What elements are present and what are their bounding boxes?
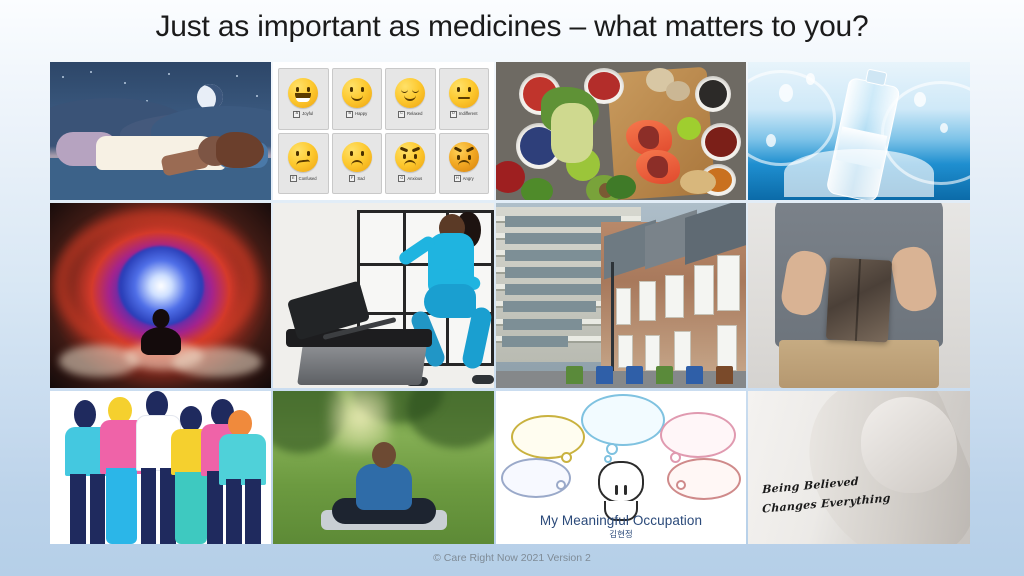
window-shape — [694, 265, 714, 315]
angry-face-icon — [449, 142, 479, 172]
healthy-food-tile[interactable] — [496, 62, 746, 200]
shortcut-key: A — [293, 111, 300, 118]
water-crown-splash — [784, 149, 934, 197]
shortcut-key: E — [290, 175, 297, 182]
finances-tile[interactable] — [748, 203, 970, 388]
emoji-label: H Angry — [454, 175, 474, 182]
emoji-name: Indifferent — [459, 112, 478, 116]
page-title: Just as important as medicines – what ma… — [0, 10, 1024, 44]
relaxed-face-icon — [395, 78, 425, 108]
grin-face-icon — [288, 78, 318, 108]
figure-head — [598, 461, 644, 503]
shortcut-key: G — [398, 175, 405, 182]
water-tile[interactable] — [748, 62, 970, 200]
water-droplet — [806, 73, 815, 85]
emoji-label: C Relaxed — [398, 111, 422, 118]
bottle-cap — [866, 69, 888, 87]
window-shape — [717, 325, 737, 372]
emoji-card-sad[interactable]: F Sad — [332, 133, 383, 195]
broccoli-floret — [521, 178, 553, 200]
window-shape — [618, 335, 633, 368]
emoji-label: F Sad — [349, 175, 365, 182]
mindfulness-tile[interactable] — [273, 391, 494, 544]
shortcut-key: C — [398, 111, 405, 118]
emoji-name: Anxious — [407, 177, 422, 181]
emoji-label: D Indifferent — [450, 111, 478, 118]
person-figure — [218, 403, 267, 544]
thought-dot — [606, 443, 618, 455]
parsley-sprig — [606, 175, 636, 199]
thought-bubble — [511, 415, 585, 459]
shortcut-key: H — [454, 175, 461, 182]
thought-dot — [670, 452, 681, 463]
hair-shape — [216, 132, 264, 168]
terraced-houses — [601, 222, 746, 389]
shortcut-key: D — [450, 111, 457, 118]
celery-stalks — [551, 103, 593, 163]
anxious-face-icon — [395, 142, 425, 172]
community-tile[interactable] — [50, 391, 271, 544]
emoji-label: B Happy — [346, 111, 367, 118]
empty-wallet — [826, 257, 892, 342]
thought-bubble — [667, 458, 741, 500]
emoji-card-relaxed[interactable]: C Relaxed — [385, 68, 436, 130]
emoji-label: E Confused — [290, 175, 317, 182]
emoji-grid: A Joyful B Happy C Relaxed — [278, 68, 489, 194]
treadmill-base — [297, 344, 426, 385]
athlete-shoe — [472, 375, 494, 384]
housing-tile[interactable] — [496, 203, 746, 388]
window-shape — [717, 255, 740, 312]
road-surface — [496, 371, 746, 388]
thought-dot — [556, 480, 566, 490]
sleep-tile[interactable] — [50, 62, 271, 200]
emoji-card-joyful[interactable]: A Joyful — [278, 68, 329, 130]
wheelie-bin — [686, 366, 703, 384]
being-believed-tile[interactable]: Being Believed Changes Everything — [748, 391, 970, 544]
water-droplet — [940, 123, 948, 133]
thought-dot — [676, 480, 686, 490]
emoji-name: Confused — [299, 177, 317, 181]
emoji-name: Joyful — [302, 112, 313, 116]
silhouette-body — [141, 327, 181, 355]
shortcut-key: B — [346, 111, 353, 118]
emoji-card-anxious[interactable]: G Anxious — [385, 133, 436, 195]
window-shape — [665, 275, 684, 318]
occupation-title: My Meaningful Occupation — [496, 513, 746, 528]
neutral-face-icon — [449, 78, 479, 108]
wheelie-bin — [596, 366, 613, 384]
silhouette-head — [152, 309, 169, 328]
shortcut-key: F — [349, 175, 356, 182]
wheelie-bin — [566, 366, 583, 384]
mood-emoji-tile[interactable]: A Joyful B Happy C Relaxed — [273, 62, 494, 200]
meditator-torso — [356, 464, 412, 510]
emoji-card-happy[interactable]: B Happy — [332, 68, 383, 130]
sad-face-icon — [342, 142, 372, 172]
wheelie-bin — [656, 366, 673, 384]
meditating-silhouette — [141, 309, 181, 355]
emoji-name: Sad — [357, 177, 364, 181]
photo-collage-grid: A Joyful B Happy C Relaxed — [50, 62, 975, 543]
occupation-author: 김현정 — [496, 528, 746, 540]
emoji-label: A Joyful — [293, 111, 313, 118]
emoji-card-indifferent[interactable]: D Indifferent — [439, 68, 490, 130]
trousers-shape — [779, 340, 939, 388]
emoji-name: Relaxed — [407, 112, 422, 116]
confused-face-icon — [288, 142, 318, 172]
wheelie-bin — [626, 366, 643, 384]
water-droplet — [766, 134, 776, 147]
slide-footer: © Care Right Now 2021 Version 2 — [0, 552, 1024, 564]
thought-bubble — [660, 412, 736, 458]
emoji-card-angry[interactable]: H Angry — [439, 133, 490, 195]
chia-bowl — [695, 76, 731, 112]
occupation-tile[interactable]: My Meaningful Occupation 김현정 — [496, 391, 746, 544]
kidney-bean-bowl — [701, 123, 741, 161]
meditator-head — [372, 442, 396, 468]
athlete-hip — [424, 284, 476, 318]
smile-face-icon — [342, 78, 372, 108]
thought-bubble — [581, 394, 665, 446]
emoji-label: G Anxious — [398, 175, 422, 182]
window-shape — [616, 288, 632, 325]
clasped-hand-shape — [861, 397, 957, 493]
window-shape — [639, 281, 656, 321]
emoji-name: Happy — [355, 112, 367, 116]
thought-dot — [561, 452, 572, 463]
emoji-name: Angry — [463, 177, 474, 181]
thought-bubble — [501, 458, 571, 498]
water-droplet — [914, 92, 926, 107]
spirituality-tile[interactable] — [50, 203, 271, 388]
exercise-tile[interactable] — [273, 203, 494, 388]
emoji-card-confused[interactable]: E Confused — [278, 133, 329, 195]
wheelie-bin — [716, 366, 733, 384]
